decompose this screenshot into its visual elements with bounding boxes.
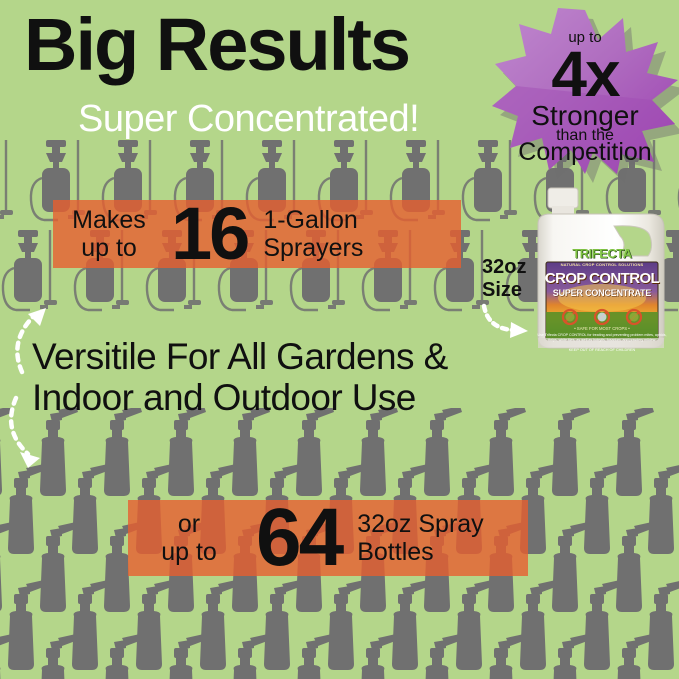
- spray-bottle-icon: [60, 462, 118, 558]
- banner-bottom-line2: up to: [161, 538, 217, 566]
- banner-top-suffix: 1-Gallon Sprayers: [253, 206, 363, 262]
- versatility-line2: Indoor and Outdoor Use: [32, 377, 448, 418]
- banner-top-line2: up to: [81, 234, 137, 262]
- bottle-size-line1: 32oz: [482, 256, 526, 279]
- spray-bottle-icon: [0, 462, 54, 558]
- spray-bottle-icon: [572, 578, 630, 674]
- spray-bottle: [412, 408, 470, 500]
- banner-bottom-line3: 32oz Spray: [357, 510, 483, 538]
- spray-bottle: [92, 632, 150, 679]
- banner-bottom-number: 64: [250, 500, 347, 575]
- spray-bottle-icon: [572, 462, 630, 558]
- spray-bottle: [252, 578, 310, 674]
- spray-bottle: [92, 408, 150, 500]
- banner-bottom-line1: or: [178, 510, 200, 538]
- strength-badge: up to 4x Stronger than the Competition: [492, 8, 678, 174]
- badge-stronger-label: Stronger: [492, 102, 678, 130]
- spray-bottle-icon: [508, 578, 566, 674]
- badge-competition-label: Competition: [492, 140, 678, 165]
- spray-bottle-icon: [188, 578, 246, 674]
- spray-bottle: [284, 408, 342, 500]
- spray-bottle-icon: [476, 632, 534, 679]
- bottle-size-line2: Size: [482, 279, 526, 302]
- spray-bottle: [508, 578, 566, 674]
- spray-bottle: [0, 520, 22, 616]
- bottle-size-caption: 32oz Size: [482, 256, 526, 302]
- spray-bottle-icon: [476, 408, 534, 500]
- spray-bottle-icon: [668, 408, 679, 500]
- versatility-line1: Versitile For All Gardens &: [32, 336, 448, 377]
- spray-bottle-icon: [60, 578, 118, 674]
- spray-bottle-icon: [92, 632, 150, 679]
- spray-bottle: [540, 520, 598, 616]
- spray-bottle: [0, 632, 22, 679]
- spray-bottle: [636, 578, 679, 674]
- pump-sprayer-icon: [0, 138, 18, 234]
- spray-bottle-icon: [348, 632, 406, 679]
- spray-bottle: [284, 632, 342, 679]
- spray-bottle: [668, 632, 679, 679]
- spray-bottle: [28, 632, 86, 679]
- pump-sprayer: [0, 138, 18, 234]
- spray-bottle-icon: [220, 632, 278, 679]
- spray-bottle-icon: [636, 462, 679, 558]
- banner-top-prefix: Makes up to: [53, 206, 165, 262]
- spray-bottle-icon: [28, 632, 86, 679]
- badge-text-group: up to 4x Stronger than the Competition: [492, 8, 678, 174]
- spray-bottle-icon: [92, 408, 150, 500]
- spray-bottle: [60, 578, 118, 674]
- banner-bottom-suffix: 32oz Spray Bottles: [347, 510, 483, 566]
- curved-dashed-arrow-icon: [6, 300, 58, 376]
- spray-bottle-icon: [220, 408, 278, 500]
- spray-bottle: [444, 578, 502, 674]
- page-title: Big Results: [24, 8, 409, 82]
- banner-top-line1: Makes: [72, 206, 146, 234]
- spray-bottle-icon: [284, 408, 342, 500]
- spray-bottle-icon: [0, 520, 22, 616]
- spray-bottle-icon: [668, 632, 679, 679]
- spray-bottle-icon: [284, 632, 342, 679]
- spray-bottle: [540, 408, 598, 500]
- gallon-sprayer-banner: Makes up to 16 1-Gallon Sprayers: [53, 200, 461, 268]
- spray-bottle: [156, 408, 214, 500]
- spray-bottle-icon: [28, 520, 86, 616]
- badge-multiplier: 4x: [492, 42, 678, 106]
- spray-bottle-icon: [444, 578, 502, 674]
- spray-bottle: [572, 462, 630, 558]
- spray-bottle-icon: [540, 632, 598, 679]
- spray-bottle-icon: [668, 520, 679, 616]
- spray-bottle-icon: [540, 520, 598, 616]
- spray-bottle-icon: [156, 632, 214, 679]
- spray-bottle-banner: or up to 64 32oz Spray Bottles: [128, 500, 528, 576]
- spray-bottle-icon: [252, 578, 310, 674]
- spray-bottle: [476, 408, 534, 500]
- spray-bottle: [636, 462, 679, 558]
- banner-top-line3: 1-Gallon: [263, 206, 363, 234]
- spray-bottle: [476, 632, 534, 679]
- spray-bottle: [220, 408, 278, 500]
- spray-bottle: [380, 578, 438, 674]
- product-infographic: Big Results Super Concentrated! up to 4x…: [0, 0, 679, 679]
- spray-bottle: [0, 578, 54, 674]
- spray-bottle: [124, 578, 182, 674]
- curved-dashed-arrow-icon: [2, 392, 54, 468]
- spray-bottle-icon: [380, 578, 438, 674]
- spray-bottle: [348, 408, 406, 500]
- spray-bottle-icon: [412, 408, 470, 500]
- spray-bottle: [316, 578, 374, 674]
- banner-top-number: 16: [165, 200, 253, 268]
- banner-top-line4: Sprayers: [263, 234, 363, 262]
- spray-bottle: [188, 578, 246, 674]
- spray-bottle: [540, 632, 598, 679]
- spray-bottle: [604, 520, 662, 616]
- spray-bottle: [156, 632, 214, 679]
- spray-bottle-icon: [412, 632, 470, 679]
- banner-bottom-prefix: or up to: [128, 510, 250, 566]
- spray-bottle: [220, 632, 278, 679]
- spray-bottle: [604, 632, 662, 679]
- jug-bottle-icon: [528, 186, 676, 352]
- spray-bottle-icon: [540, 408, 598, 500]
- spray-bottle: [668, 408, 679, 500]
- spray-bottle-icon: [604, 632, 662, 679]
- spray-bottle: [572, 578, 630, 674]
- versatility-text: Versitile For All Gardens & Indoor and O…: [32, 336, 448, 419]
- spray-bottle-icon: [156, 408, 214, 500]
- spray-bottle: [604, 408, 662, 500]
- spray-bottle: [0, 462, 54, 558]
- spray-bottle-icon: [604, 520, 662, 616]
- spray-bottle: [668, 520, 679, 616]
- spray-bottle-icon: [0, 578, 54, 674]
- spray-bottle-icon: [0, 632, 22, 679]
- spray-bottle-icon: [604, 408, 662, 500]
- spray-bottle-icon: [636, 578, 679, 674]
- spray-bottle: [60, 462, 118, 558]
- spray-bottle-icon: [316, 578, 374, 674]
- spray-bottle: [348, 632, 406, 679]
- spray-bottle-icon: [348, 408, 406, 500]
- spray-bottle: [412, 632, 470, 679]
- spray-bottle: [28, 520, 86, 616]
- banner-bottom-line4: Bottles: [357, 538, 483, 566]
- spray-bottle-icon: [124, 578, 182, 674]
- page-subtitle: Super Concentrated!: [78, 100, 419, 138]
- product-bottle: TRIFECTA NATURAL CROP CONTROL SOLUTIONS …: [528, 186, 676, 352]
